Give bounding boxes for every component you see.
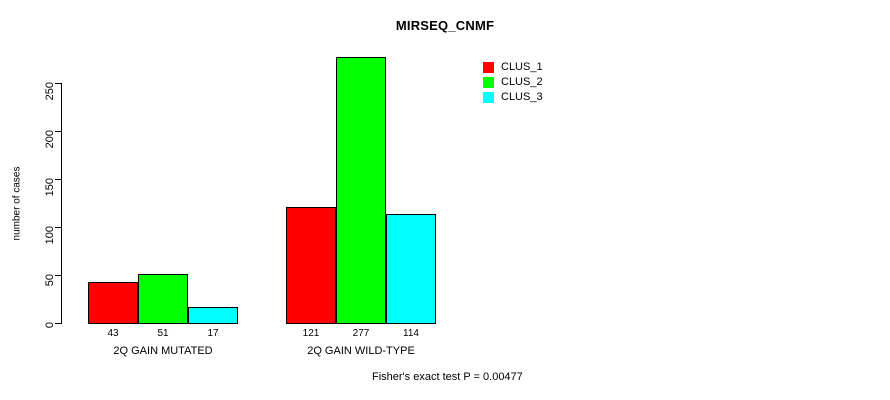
bar-clus_2-group-2[interactable] — [336, 57, 386, 324]
bar-clus_1-group-2[interactable] — [286, 207, 336, 324]
bar-value-label: 121 — [286, 328, 336, 339]
legend-swatch-icon — [483, 92, 494, 103]
legend-swatch-icon — [483, 77, 494, 88]
y-axis-title: number of cases — [12, 154, 23, 254]
legend-item-label: CLUS_2 — [501, 77, 543, 88]
y-axis-tick-label: 200 — [44, 130, 56, 185]
y-axis-line — [61, 83, 62, 324]
bar-clus_3-group-2[interactable] — [386, 214, 436, 324]
bar-value-label: 277 — [336, 328, 386, 339]
y-axis-tick-label: 250 — [44, 82, 56, 137]
x-axis-group-label: 2Q GAIN MUTATED — [88, 345, 238, 357]
bar-value-label: 43 — [88, 328, 138, 339]
legend-item-label: CLUS_1 — [501, 62, 543, 73]
bar-clus_3-group-1[interactable] — [188, 307, 238, 324]
bar-clus_1-group-1[interactable] — [88, 282, 138, 324]
legend-item-clus_2[interactable]: CLUS_2 — [483, 75, 543, 90]
legend-item-clus_3[interactable]: CLUS_3 — [483, 90, 543, 105]
y-axis-tick-label: 0 — [44, 322, 56, 377]
y-axis-tick-label: 50 — [44, 274, 56, 329]
y-axis-tick-label: 100 — [44, 226, 56, 281]
bar-value-label: 17 — [188, 328, 238, 339]
bar-clus_2-group-1[interactable] — [138, 274, 188, 324]
plot-area: 050100150200250 number of cases 4351172Q… — [0, 0, 890, 400]
y-axis-tick-label: 150 — [44, 178, 56, 233]
legend-item-clus_1[interactable]: CLUS_1 — [483, 60, 543, 75]
legend-swatch-icon — [483, 62, 494, 73]
chart-legend: CLUS_1CLUS_2CLUS_3 — [483, 60, 543, 105]
x-axis-group-label: 2Q GAIN WILD-TYPE — [286, 345, 436, 357]
statistical-test-annotation: Fisher's exact test P = 0.00477 — [372, 371, 523, 383]
chart-container: MIRSEQ_CNMF 050100150200250 number of ca… — [0, 0, 890, 400]
legend-item-label: CLUS_3 — [501, 92, 543, 103]
bar-value-label: 114 — [386, 328, 436, 339]
bar-value-label: 51 — [138, 328, 188, 339]
